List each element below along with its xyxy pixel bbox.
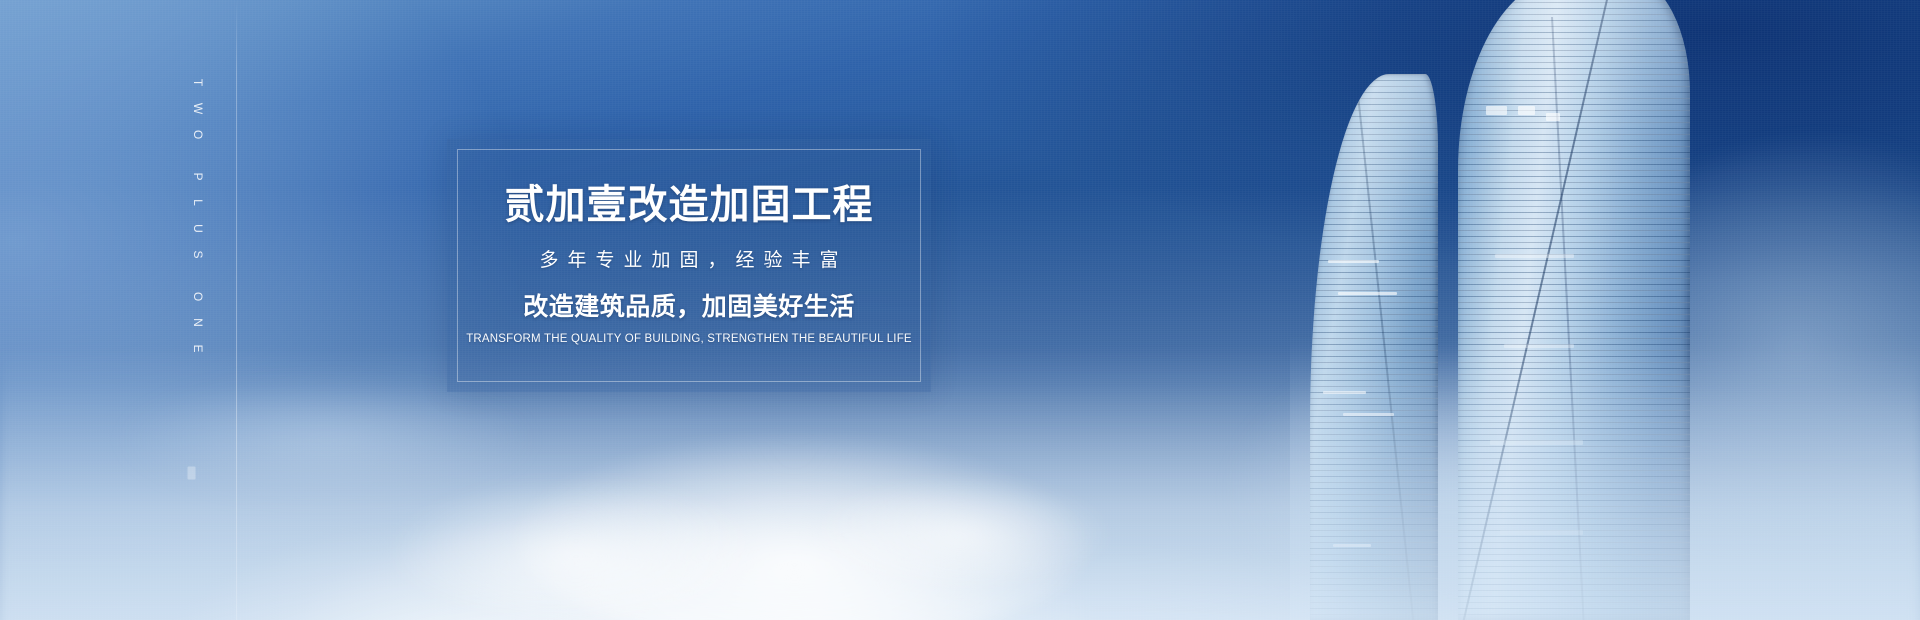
page-title: 贰加壹改造加固工程 — [447, 139, 931, 225]
vertical-divider-line — [236, 0, 237, 620]
subtitle-text: 多年专业加固，经验丰富 — [447, 225, 931, 272]
hero-banner: T W O P L U S O N E 贰加壹改造加固工程 多年专业加固，经验丰… — [0, 0, 1920, 620]
tower-right-window-strip — [1546, 113, 1560, 121]
vertical-brand-label: T W O P L U S O N E — [178, 70, 218, 362]
cloud-bank-bottom — [0, 347, 1920, 620]
tower-right-window-strip — [1518, 106, 1534, 115]
vertical-label-char: O — [185, 115, 211, 155]
tower-left-window-strip — [1338, 292, 1397, 295]
panel-content: 贰加壹改造加固工程 多年专业加固，经验丰富 改造建筑品质，加固美好生活 TRAN… — [447, 139, 931, 347]
tower-right-window-strip — [1486, 106, 1507, 115]
english-tagline: TRANSFORM THE QUALITY OF BUILDING, STREN… — [447, 321, 931, 347]
vertical-label-char: S — [185, 235, 211, 275]
tagline-text: 改造建筑品质，加固美好生活 — [447, 272, 931, 322]
hero-text-panel: 贰加壹改造加固工程 多年专业加固，经验丰富 改造建筑品质，加固美好生活 TRAN… — [447, 139, 931, 392]
vertical-label-char: E — [185, 329, 211, 369]
tower-right-window-strip — [1495, 254, 1574, 258]
tower-left-window-strip — [1328, 260, 1379, 263]
decorative-corner-mark — [188, 467, 196, 480]
